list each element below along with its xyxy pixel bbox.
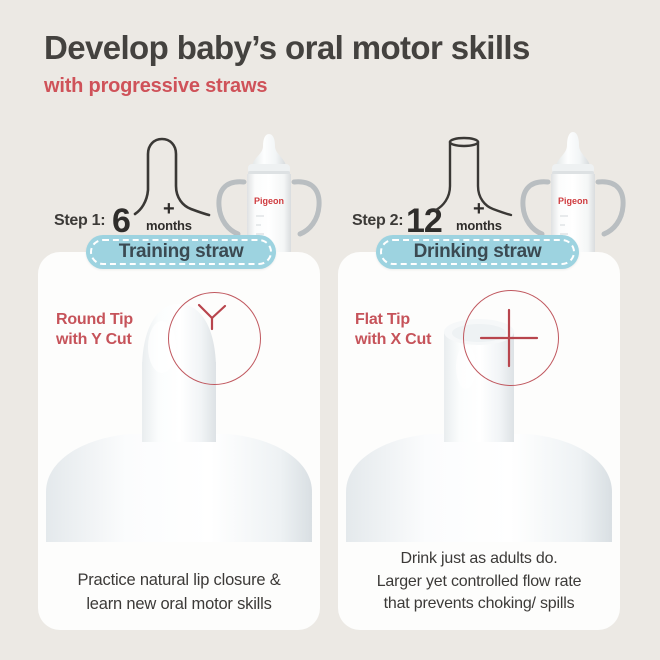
step-age-number: 6 [112, 204, 130, 238]
step-label: Step 1: [54, 212, 105, 230]
page-subtitle: with progressive straws [44, 75, 644, 98]
plus-sign: + [456, 202, 502, 217]
step-age-units: + months [456, 202, 502, 233]
column-training-straw: Step 1: 6 + months [38, 130, 320, 630]
magnified-tip-circle [168, 292, 261, 385]
months-label: months [146, 218, 192, 233]
cut-type-label: Flat Tip with X Cut [355, 310, 431, 351]
step-label: Step 2: [352, 212, 403, 230]
badge-label: Drinking straw [414, 241, 542, 263]
card-training-straw: Round Tip with Y Cut [38, 252, 320, 630]
bottle-brand-text: Pigeon [558, 196, 588, 206]
badge-label: Training straw [119, 241, 244, 263]
caption-line-2: Larger yet controlled flow rate [346, 571, 612, 594]
page-title: Develop baby’s oral motor skills [44, 30, 644, 66]
caption-line-2: learn new oral motor skills [46, 593, 312, 616]
cut-type-line-2: with X Cut [355, 330, 431, 350]
badge-drinking-straw[interactable]: Drinking straw [376, 235, 579, 269]
header: Develop baby’s oral motor skills with pr… [44, 30, 644, 98]
cut-type-label: Round Tip with Y Cut [56, 310, 133, 351]
badge-training-straw[interactable]: Training straw [86, 235, 276, 269]
magnified-tip-circle [463, 290, 559, 386]
caption-line-3: that prevents choking/ spills [346, 593, 612, 616]
infographic-root: Develop baby’s oral motor skills with pr… [0, 0, 660, 660]
step-age-number: 12 [406, 204, 442, 238]
months-label: months [456, 218, 502, 233]
bottle-brand-text: Pigeon [254, 196, 284, 206]
card-caption: Drink just as adults do. Larger yet cont… [338, 548, 620, 616]
cut-type-line-2: with Y Cut [56, 330, 133, 350]
step-age-units: + months [146, 202, 192, 233]
plus-sign: + [146, 202, 192, 217]
card-caption: Practice natural lip closure & learn new… [38, 569, 320, 616]
cut-type-line-1: Flat Tip [355, 310, 431, 330]
card-drinking-straw: Flat Tip with X Cut [338, 252, 620, 630]
caption-line-1: Drink just as adults do. [346, 548, 612, 571]
column-drinking-straw: Step 2: 12 + months [338, 130, 620, 630]
caption-line-1: Practice natural lip closure & [46, 569, 312, 592]
cut-type-line-1: Round Tip [56, 310, 133, 330]
